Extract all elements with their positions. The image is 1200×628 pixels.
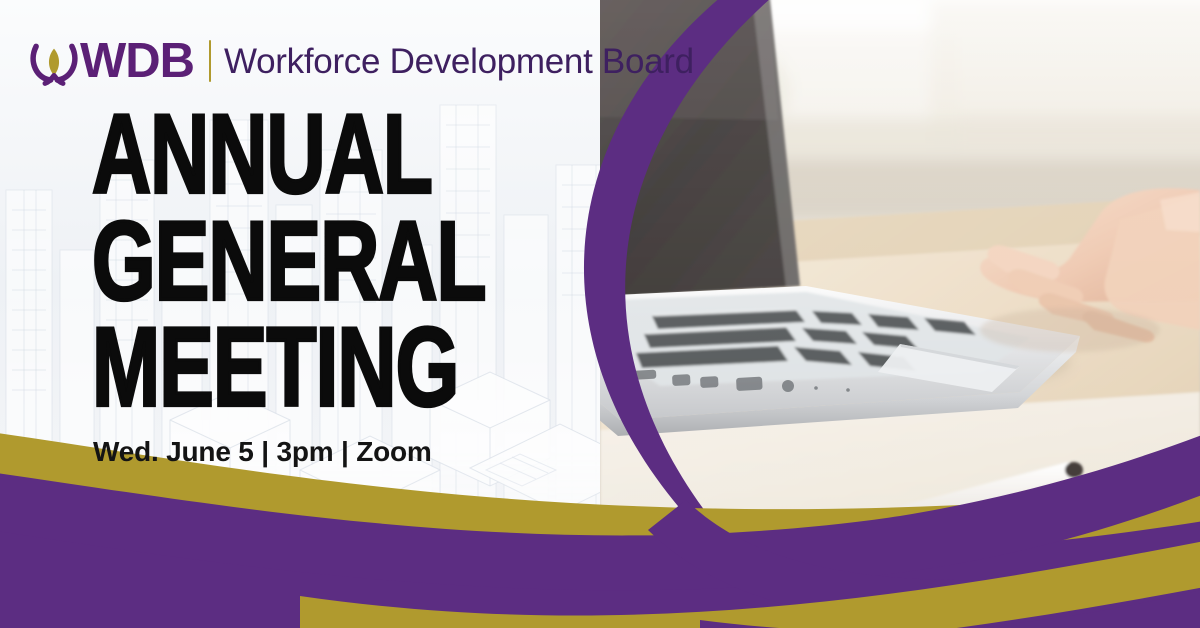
logo-acronym: WDB	[80, 37, 194, 86]
headline-line-2: GENERAL	[92, 206, 486, 317]
page-title: ANNUAL GENERAL MEETING	[92, 99, 515, 399]
logo-full-name: Workforce Development Board	[224, 44, 694, 79]
event-banner: WDB Workforce Development Board ANNUAL G…	[0, 0, 1200, 628]
logo-divider	[209, 40, 211, 82]
event-details: Wed. June 5 | 3pm | Zoom	[93, 436, 432, 468]
wdb-lotus-mark	[26, 33, 82, 89]
headline-line-1: ANNUAL	[92, 99, 486, 210]
logo-lockup[interactable]: WDB Workforce Development Board	[26, 33, 694, 89]
headline-line-3: MEETING	[92, 312, 486, 423]
